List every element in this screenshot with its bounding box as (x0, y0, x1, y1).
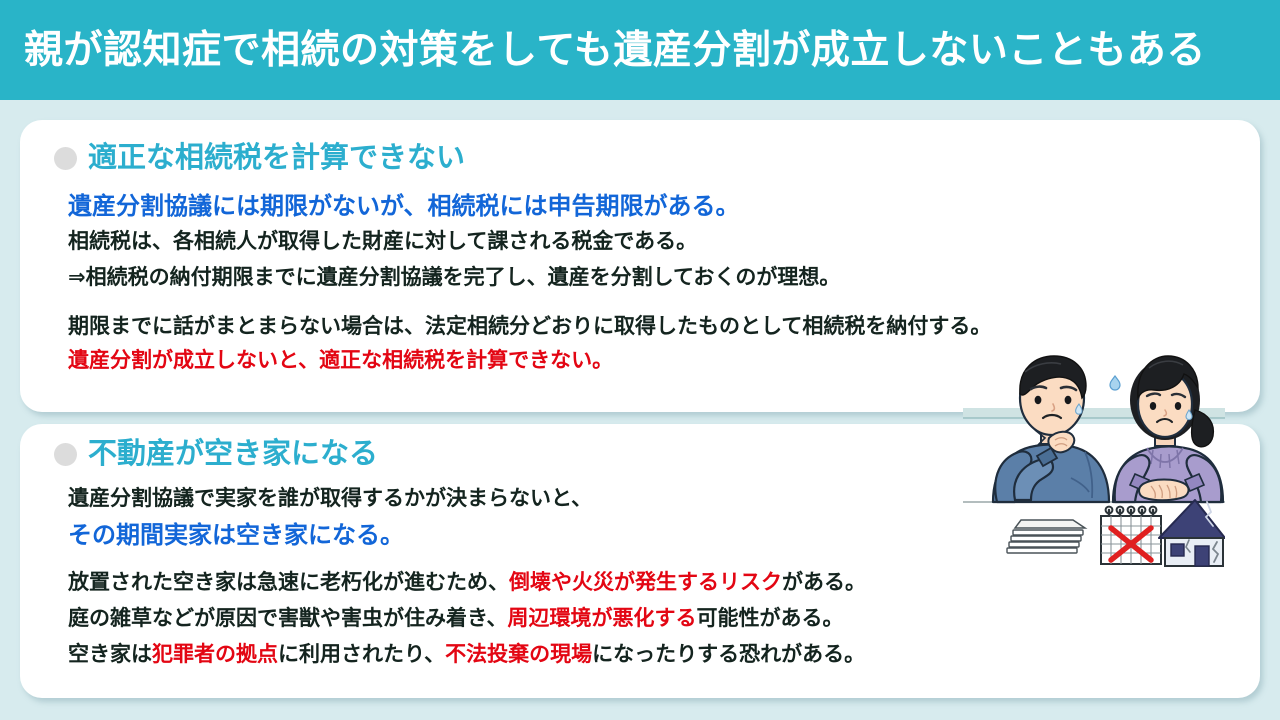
plain-text: がある。 (782, 571, 866, 594)
card-2-body-line-3: 空き家は犯罪者の拠点に利用されたり、不法投棄の現場になったりする恐れがある。 (68, 644, 865, 665)
plain-text: 放置された空き家は急速に老朽化が進むため、 (68, 571, 509, 594)
section-heading-1-label: 適正な相続税を計算できない (88, 144, 465, 173)
highlighted-text: 周辺環境が悪化する (508, 607, 697, 630)
plain-text: 可能性がある。 (697, 607, 844, 630)
card-2-body-line-1: 放置された空き家は急速に老朽化が進むため、倒壊や火災が発生するリスクがある。 (68, 572, 866, 593)
card-2-pre-lead-line: 遺産分割協議で実家を誰が取得するかが決まらないと、 (68, 488, 592, 509)
plain-text: に利用されたり、 (278, 643, 445, 666)
highlighted-text: 倒壊や火災が発生するリスク (509, 571, 782, 594)
page-title: 親が認知症で相続の対策をしても遺産分割が成立しないこともある (0, 31, 1206, 70)
card-1-body-line-4-highlight: 遺産分割が成立しないと、適正な相続税を計算できない。 (68, 350, 613, 371)
section-heading-2-label: 不動産が空き家になる (88, 440, 378, 469)
bullet-dot-icon (54, 147, 77, 170)
slide-title-bar: 親が認知症で相続の対策をしても遺産分割が成立しないこともある (0, 0, 1280, 100)
highlighted-text: 不法投棄の現場 (445, 643, 592, 666)
card-1-body-line-2: ⇒相続税の納付期限までに遺産分割協議を完了し、遺産を分割しておくのが理想。 (68, 267, 840, 288)
plain-text: 庭の雑草などが原因で害獣や害虫が住み着き、 (68, 607, 508, 630)
card-1-lead-line: 遺産分割協議には期限がないが、相続税には申告期限がある。 (68, 195, 740, 219)
card-1-body-line-1: 相続税は、各相続人が取得した財産に対して課される税金である。 (68, 231, 697, 252)
bullet-dot-icon (54, 443, 77, 466)
highlighted-text: 犯罪者の拠点 (152, 643, 278, 666)
plain-text: になったりする恐れがある。 (592, 643, 865, 666)
section-heading-2: 不動産が空き家になる (54, 440, 378, 469)
slide-root: 親が認知症で相続の対策をしても遺産分割が成立しないこともある 適正な相続税を計算… (0, 0, 1280, 720)
card-2-body-line-2: 庭の雑草などが原因で害獣や害虫が住み着き、周辺環境が悪化する可能性がある。 (68, 608, 844, 629)
card-1-body-line-3: 期限までに話がまとまらない場合は、法定相続分どおりに取得したものとして相続税を納… (68, 316, 991, 337)
section-heading-1: 適正な相続税を計算できない (54, 144, 465, 173)
plain-text: 空き家は (68, 643, 152, 666)
card-2-lead-line: その期間実家は空き家になる。 (68, 524, 404, 548)
